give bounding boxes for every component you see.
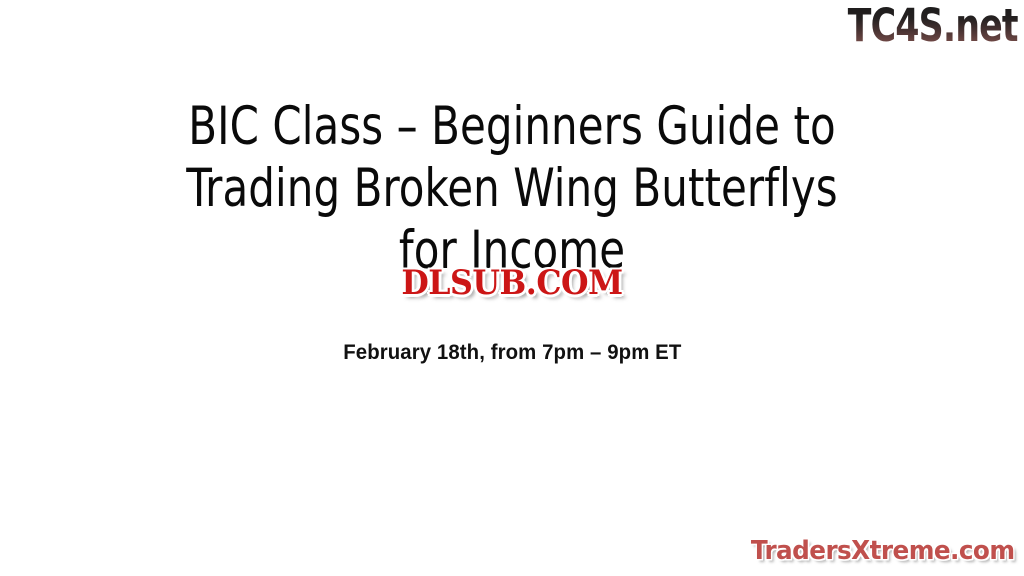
title-line-1: BIC Class – Beginners Guide to	[61, 96, 962, 158]
presentation-slide: BIC Class – Beginners Guide to Trading B…	[0, 0, 1024, 576]
watermark-tradersxtreme: TradersXtreme.com	[737, 535, 1015, 567]
title-line-2: Trading Broken Wing Butterflys	[61, 158, 962, 220]
slide-subtitle: February 18th, from 7pm – 9pm ET	[0, 340, 1024, 366]
watermark-dlsub-text: DLSUB.COM	[401, 263, 622, 303]
watermark-dlsub: DLSUB.COM	[366, 263, 658, 303]
slide-title: BIC Class – Beginners Guide to Trading B…	[0, 96, 1024, 282]
watermark-tradersxtreme-text: TradersXtreme.com	[750, 535, 1014, 567]
subtitle-text: February 18th, from 7pm – 9pm ET	[343, 340, 681, 366]
watermark-tc4s: TC4S.net	[848, 1, 1018, 51]
